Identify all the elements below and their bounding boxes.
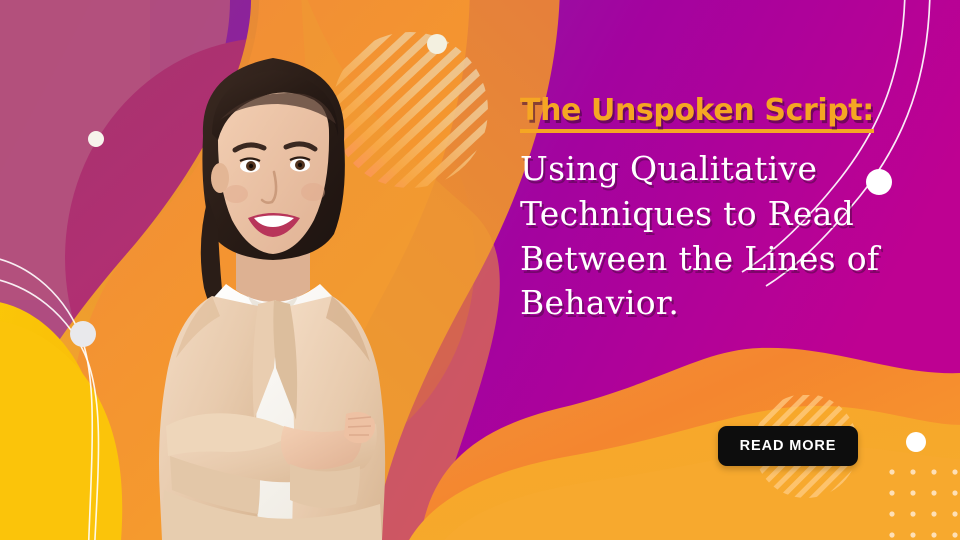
dot-top-left-small	[88, 131, 104, 147]
headline-line-3: Between the Lines of	[520, 237, 920, 282]
dot-left-mid	[70, 321, 96, 347]
headline-line-1: Using Qualitative	[520, 147, 920, 192]
headline-block: The Unspoken Script: Using Qualitative T…	[520, 95, 920, 326]
dot-right-lower	[906, 432, 926, 452]
headline-line-4: Behavior.	[520, 281, 920, 326]
woman-professional-portrait	[108, 28, 438, 540]
promo-banner: The Unspoken Script: Using Qualitative T…	[0, 0, 960, 540]
read-more-button[interactable]: READ MORE	[718, 426, 858, 466]
kicker-text: The Unspoken Script:	[520, 95, 874, 133]
headline-line-2: Techniques to Read	[520, 192, 920, 237]
headline-text: Using Qualitative Techniques to Read Bet…	[520, 147, 920, 327]
dot-striped-circle-top	[427, 34, 447, 54]
dot-right-upper	[866, 169, 892, 195]
